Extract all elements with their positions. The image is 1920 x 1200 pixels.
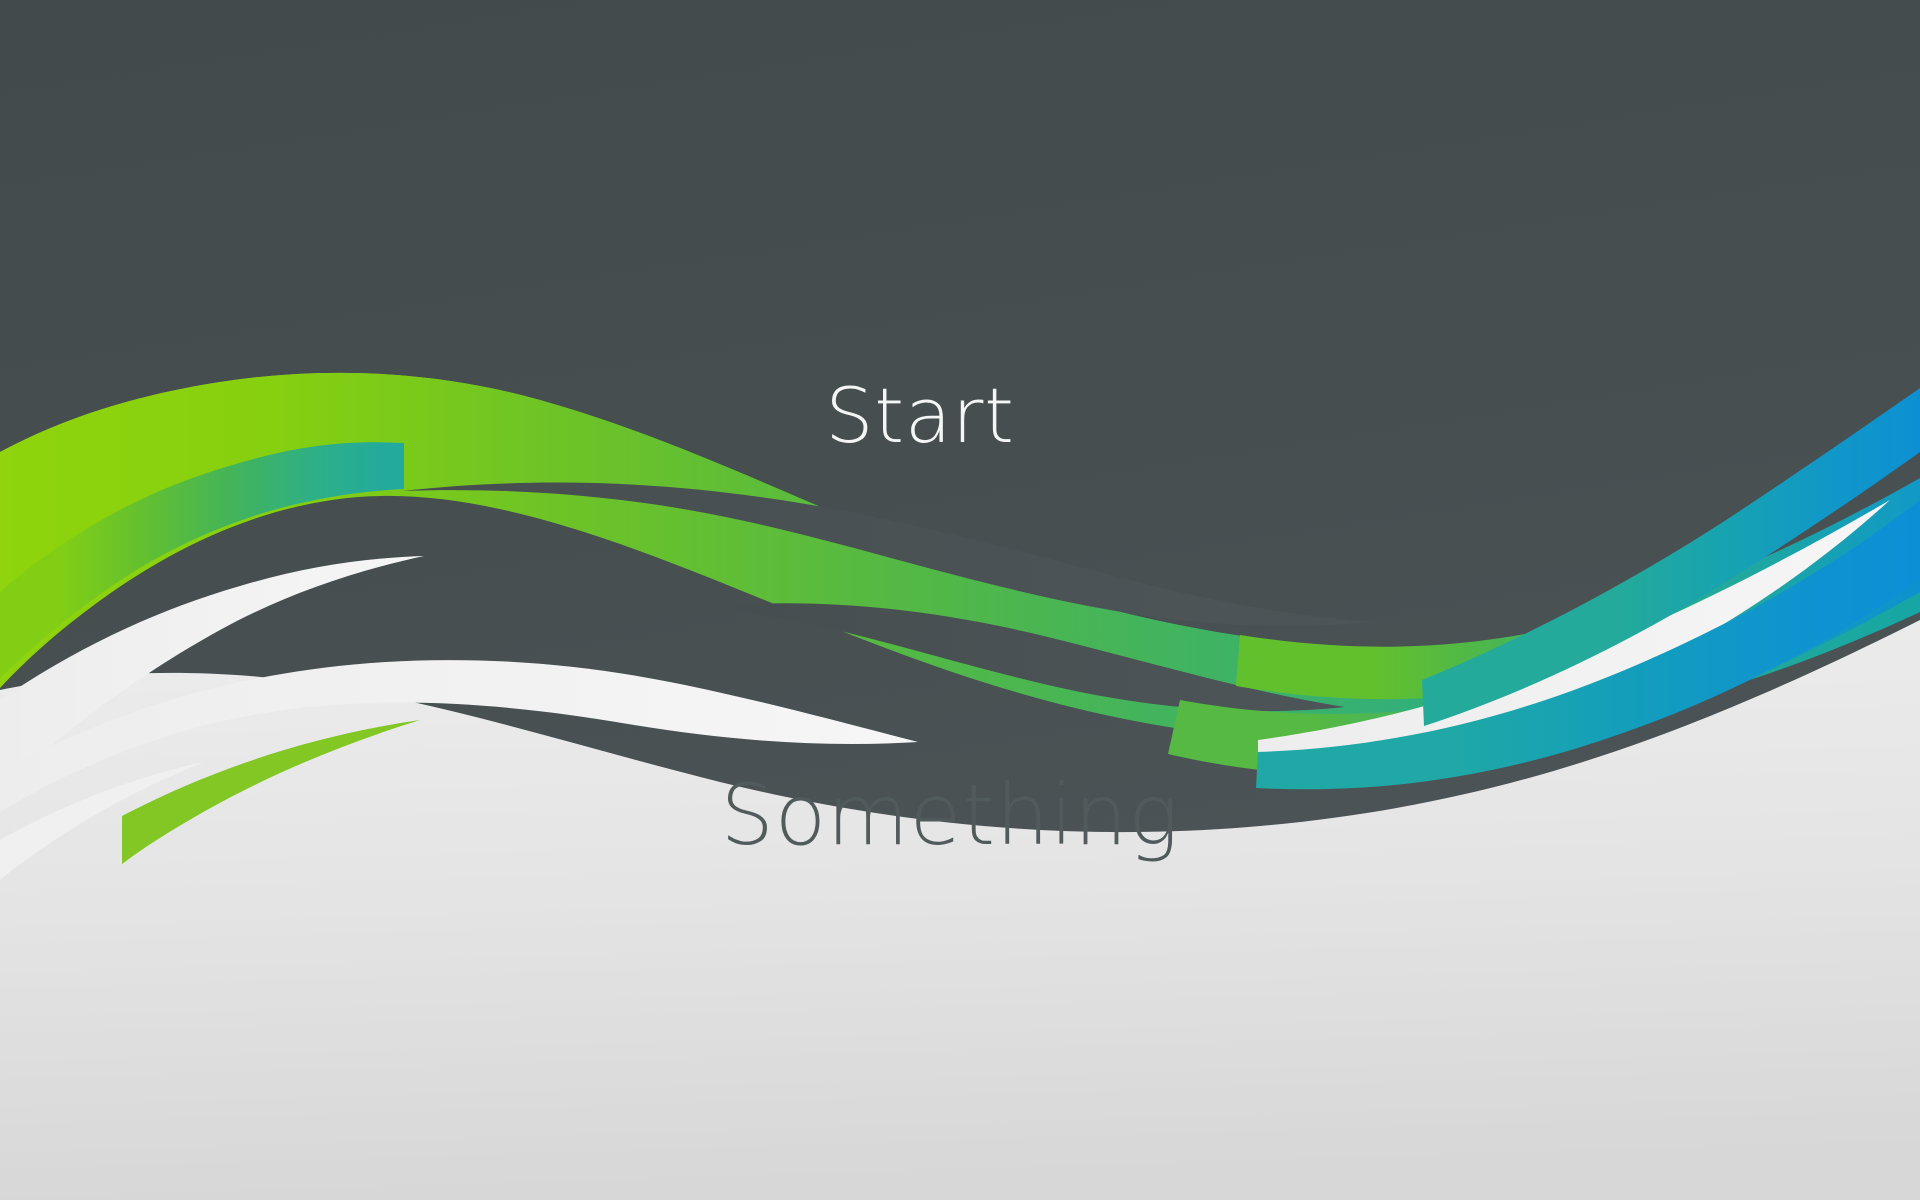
- page-title-start: Start: [0, 378, 1880, 454]
- wallpaper-canvas: Start Something: [0, 0, 1920, 1200]
- page-title-something: Something: [0, 773, 1910, 857]
- abstract-wave-artwork: [0, 0, 1920, 1200]
